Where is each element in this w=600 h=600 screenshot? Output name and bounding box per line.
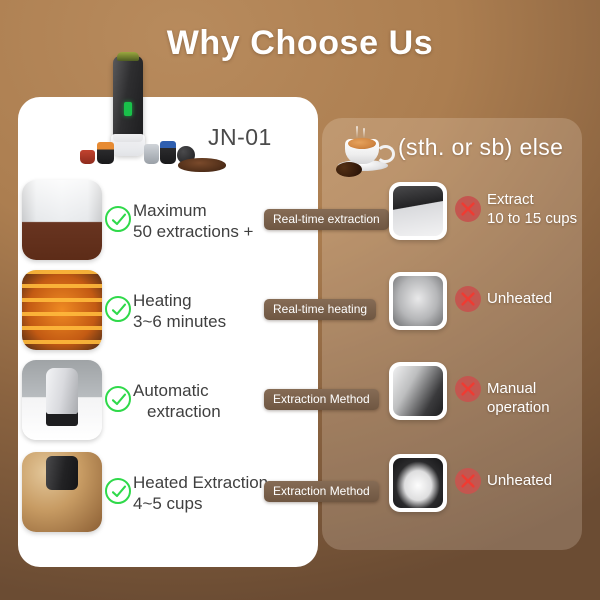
right-column-label: (sth. or sb) else [398,134,563,161]
thumb-inner [393,458,443,508]
thumb-inner [393,366,443,416]
cold-coil-image [389,272,447,330]
steam-icon [363,128,365,138]
coffee-grounds-icon [178,158,226,172]
check-circle-icon [105,478,131,504]
heating-coil-image [22,270,102,350]
manual-pour-image [389,182,447,240]
check-circle-icon [105,386,131,412]
comparison-row: Maximum 50 extractions + Real-time extra… [0,178,600,268]
coffee-beans-icon [336,162,362,177]
page-title: Why Choose Us [0,24,600,63]
coffee-cup-icon [336,126,394,176]
comparison-row: Automatic extraction Extraction Method M… [0,358,600,448]
right-column-header: (sth. or sb) else [330,120,592,182]
right-feature-line1: Unheated [487,290,552,307]
machine-funnel-icon [111,134,145,156]
right-feature-text: Manual operation [487,379,597,417]
left-feature-line1: Automatic [133,381,209,400]
heated-extraction-image [22,452,102,532]
capsule-icon [80,150,95,164]
hand-press-image [389,362,447,420]
comparison-row: Heating 3~6 minutes Real-time heating Un… [0,268,600,358]
cross-circle-icon [455,376,481,402]
cross-circle-icon [455,468,481,494]
right-feature-line1: Unheated [487,472,552,489]
cross-circle-icon [455,286,481,312]
cross-circle-icon [455,196,481,222]
automatic-machine-image [22,360,102,440]
comparison-badge: Real-time heating [264,299,376,320]
left-column-header: JN-01 [18,108,318,180]
capsule-icon [144,144,159,164]
right-feature-text: Extract 10 to 15 cups [487,190,597,228]
extraction-chamber-image [22,180,102,260]
right-feature-line1: Extract [487,191,534,208]
comparison-row: Heated Extraction 4~5 cups Extraction Me… [0,450,600,540]
coffee-machine-icon [113,56,143,142]
comparison-badge: Real-time extraction [264,209,389,230]
check-circle-icon [105,206,131,232]
left-feature-line1: Maximum [133,201,207,220]
comparison-badge: Extraction Method [264,389,379,410]
thumb-inner [393,186,443,236]
thumb-inner [393,276,443,326]
crema-icon [348,138,376,149]
press-filter-image [389,454,447,512]
comparison-poster: Why Choose Us JN-01 (sth. or sb) else [0,0,600,600]
comparison-badge: Extraction Method [264,481,379,502]
capsule-icon [97,142,114,164]
right-feature-line1: Manual operation [487,380,550,416]
left-column-label: JN-01 [208,124,272,151]
left-feature-line1: Heated Extraction [133,473,268,492]
right-feature-text: Unheated [487,289,597,308]
right-feature-text: Unheated [487,471,597,490]
left-feature-line1: Heating [133,291,192,310]
check-circle-icon [105,296,131,322]
steam-icon [356,126,358,138]
right-feature-line2: 10 to 15 cups [487,210,577,227]
capsule-icon [160,141,176,164]
